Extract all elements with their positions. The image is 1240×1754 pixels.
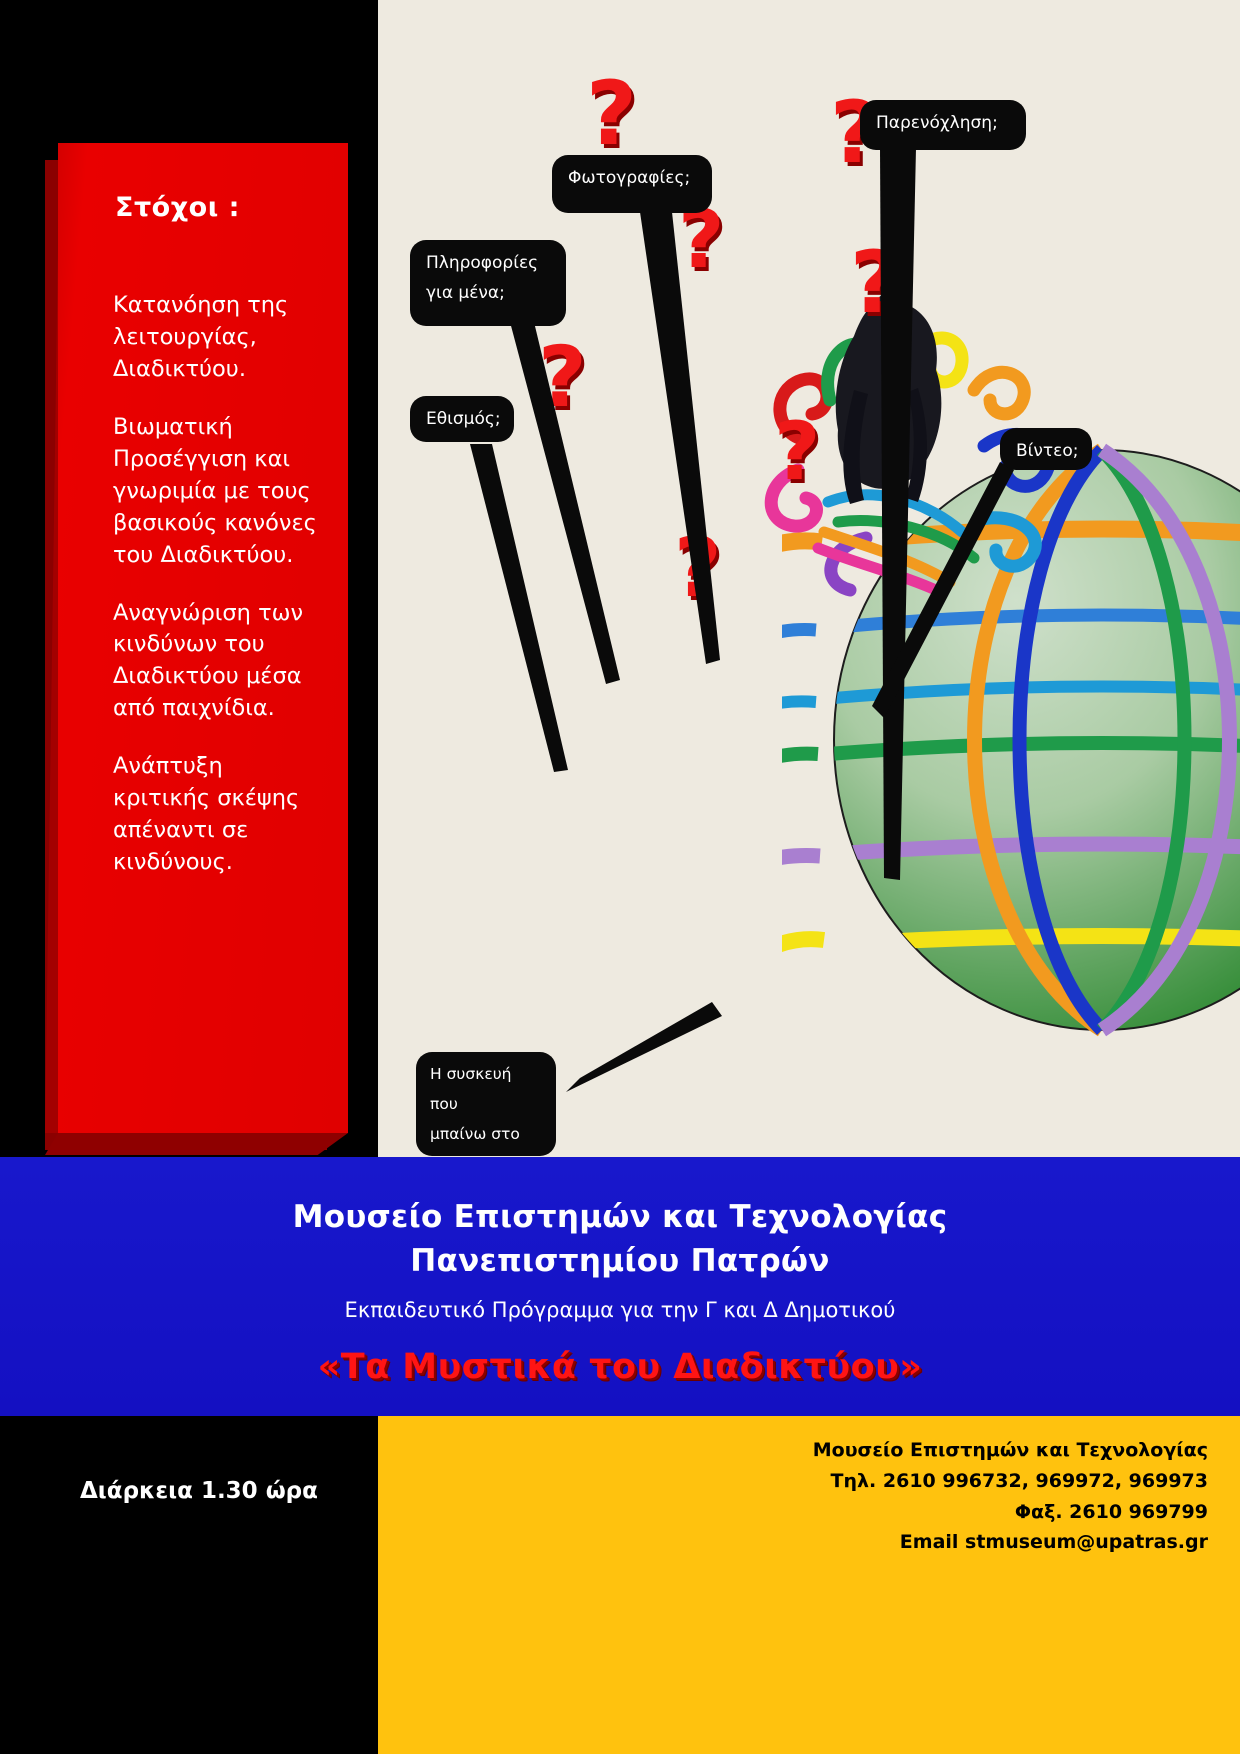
bottom-black-strip xyxy=(0,1416,378,1754)
objective-item: Κατανόηση της λειτουργίας, Διαδικτύου. xyxy=(113,290,323,386)
program-title: «Τα Μυστικά του Διαδικτύου» xyxy=(0,1347,1240,1387)
museum-name-line2: Πανεπιστημίου Πατρών xyxy=(0,1243,1240,1279)
contact-email: Email stmuseum@upatras.gr xyxy=(568,1527,1208,1558)
contact-fax: Φαξ. 2610 969799 xyxy=(568,1497,1208,1528)
callout-device[interactable]: Η συσκευή που μπαίνω στο Διαδίκτυο; xyxy=(416,1052,556,1156)
objectives-list: Κατανόηση της λειτουργίας, Διαδικτύου. Β… xyxy=(113,290,323,905)
museum-name-line1: Μουσείο Επιστημών και Τεχνολογίας xyxy=(0,1199,1240,1235)
contact-phone: Τηλ. 2610 996732, 969972, 969973 xyxy=(568,1466,1208,1497)
callout-video[interactable]: Βίντεο; xyxy=(1000,428,1092,470)
callout-information[interactable]: Πληροφορίες για μένα; xyxy=(410,240,566,326)
question-mark: ? xyxy=(538,335,587,419)
question-mark: ? xyxy=(586,70,637,158)
objectives-box-base xyxy=(45,1133,348,1155)
callout-harassment[interactable]: Παρενόχληση; xyxy=(860,100,1026,150)
objective-item: Αναγνώριση των κινδύνων του Διαδικτύου μ… xyxy=(113,598,323,726)
objective-item: Ανάπτυξη κριτικής σκέψης απέναντι σε κιν… xyxy=(113,751,323,879)
program-subtitle: Εκπαιδευτικό Πρόγραμμα για την Γ και Δ Δ… xyxy=(0,1298,1240,1322)
objectives-title: Στόχοι : xyxy=(115,192,240,223)
poster-root: ? ? ? ? ? ? ? Στόχοι : Κατανόηση της λει… xyxy=(0,0,1240,1754)
contact-block: Μουσείο Επιστημών και Τεχνολογίας Τηλ. 2… xyxy=(568,1435,1208,1558)
duration-label: Διάρκεια 1.30 ώρα xyxy=(80,1478,380,1504)
objective-item: Βιωματική Προσέγγιση και γνωριμία με του… xyxy=(113,412,323,572)
callout-addiction[interactable]: Εθισμός; xyxy=(410,396,514,442)
artwork-panel: ? ? ? ? ? ? ? xyxy=(378,0,1240,1157)
callout-photos[interactable]: Φωτογραφίες; xyxy=(552,155,712,213)
contact-name: Μουσείο Επιστημών και Τεχνολογίας xyxy=(568,1435,1208,1466)
